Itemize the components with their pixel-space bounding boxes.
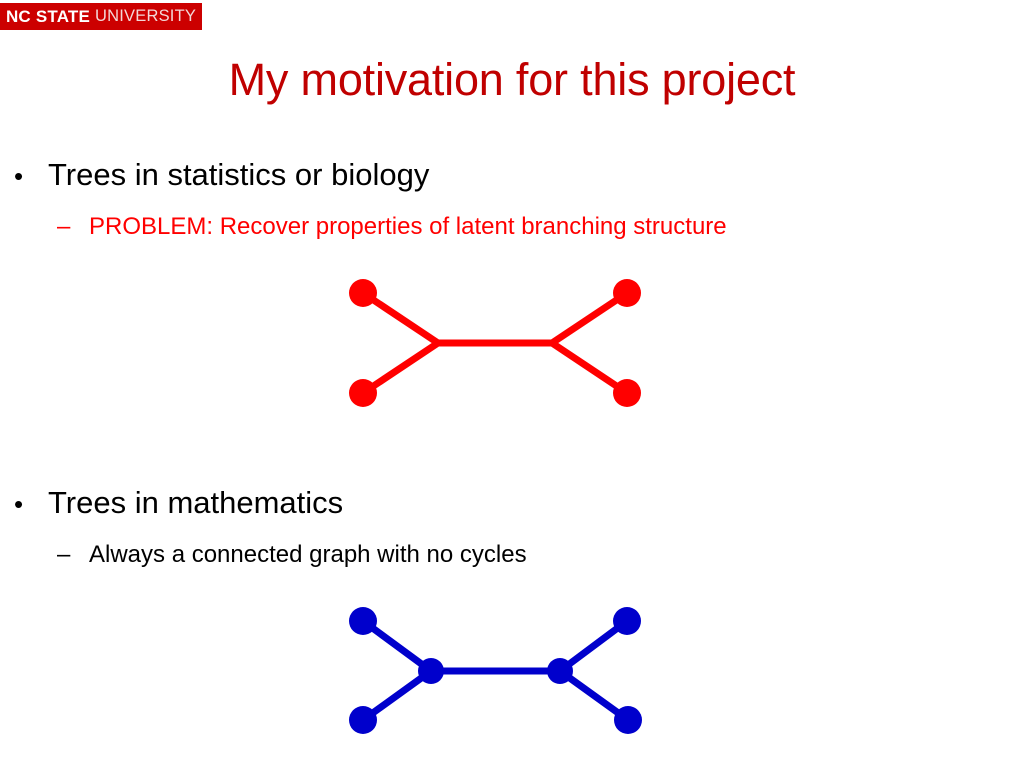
logo-primary-text: NC STATE <box>6 8 90 25</box>
tree-node-leaf-bottom-left <box>349 706 377 734</box>
bullet-label: Trees in statistics or biology <box>48 157 429 192</box>
bullet-marker: • <box>14 484 48 524</box>
blue-quartet-tree-figure <box>330 592 660 752</box>
tree-node-internal-left <box>418 658 444 684</box>
tree-node-leaf-top-left <box>349 607 377 635</box>
tree-node-internal-right <box>547 658 573 684</box>
red-quartet-tree-figure <box>330 265 660 425</box>
nc-state-university-logo: NC STATE UNIVERSITY <box>0 3 202 30</box>
red-tree-svg <box>330 265 660 425</box>
tree-node-leaf-bottom-left <box>349 379 377 407</box>
page-title: My motivation for this project <box>0 52 1024 108</box>
sub-bullet-label: PROBLEM: Recover properties of latent br… <box>89 213 727 240</box>
tree-node-leaf-top-left <box>349 279 377 307</box>
bullet-label: Trees in mathematics <box>48 485 343 520</box>
sub-bullet-label: Always a connected graph with no cycles <box>89 541 527 568</box>
bullet-item-trees-in-mathematics: •Trees in mathematics <box>14 483 343 524</box>
tree-node-leaf-top-right <box>613 279 641 307</box>
sub-bullet-marker: – <box>57 211 89 243</box>
sub-bullet-item-connected-graph: –Always a connected graph with no cycles <box>57 539 527 571</box>
sub-bullet-marker: – <box>57 539 89 571</box>
bullet-marker: • <box>14 156 48 196</box>
bullet-item-trees-in-statistics-or-biology: •Trees in statistics or biology <box>14 155 429 196</box>
tree-node-leaf-bottom-right <box>613 379 641 407</box>
tree-node-leaf-bottom-right <box>614 706 642 734</box>
sub-bullet-item-problem: –PROBLEM: Recover properties of latent b… <box>57 211 727 243</box>
blue-tree-svg <box>330 592 660 752</box>
logo-secondary-text: UNIVERSITY <box>95 8 196 25</box>
tree-node-leaf-top-right <box>613 607 641 635</box>
